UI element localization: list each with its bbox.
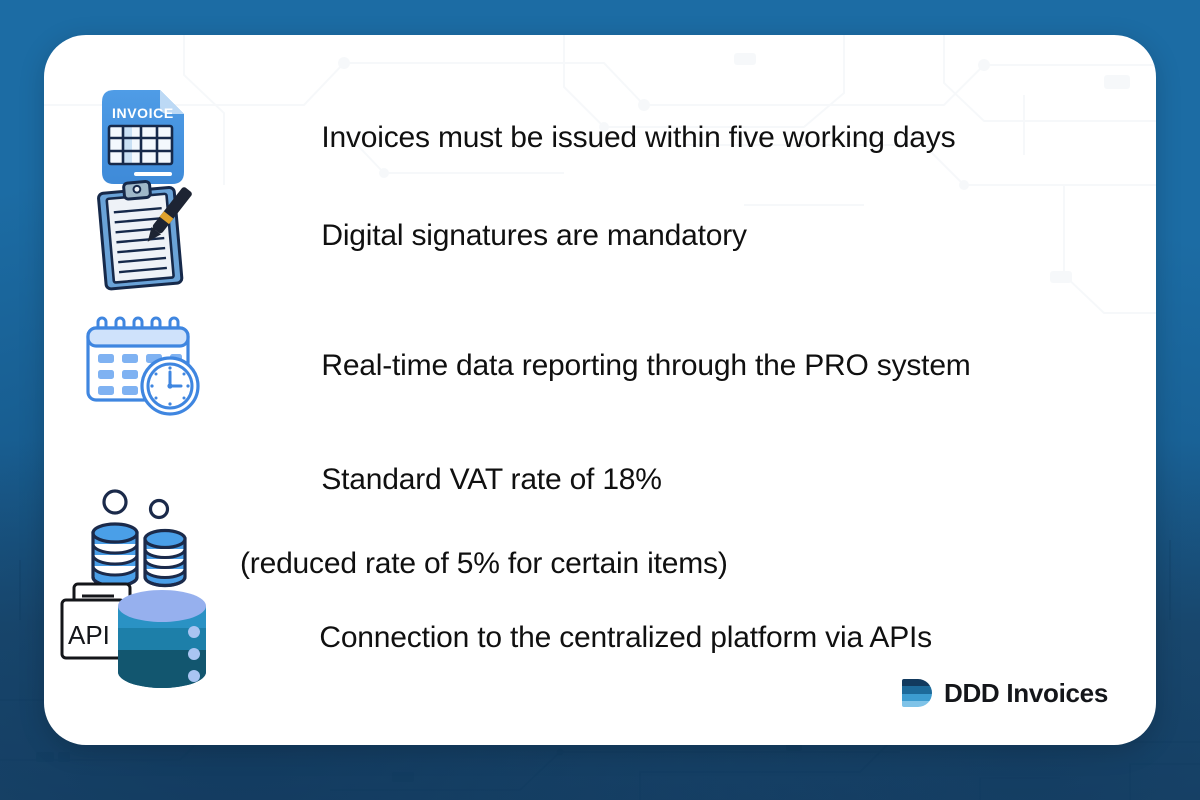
list-item-line1: Real-time data reporting through the PRO… [321,349,970,382]
list-item-line1: Invoices must be issued within five work… [321,121,955,154]
clipboard-signature-icon-cell [44,171,240,301]
list-item-line1: Standard VAT rate of 18% [321,463,661,496]
list-item-line1: Connection to the centralized platform v… [319,621,932,654]
clipboard-signature-icon [88,176,196,296]
list-item-text: Digital signatures are mandatory [240,173,747,299]
list-item-line1: Digital signatures are mandatory [321,219,746,252]
infographic-canvas: INVOICE [0,0,1200,800]
list-item-text: Connection to the centralized platform v… [238,575,932,701]
api-database-icon-cell: API [44,573,240,703]
list-item: Real-time data reporting through the PRO… [44,303,971,429]
api-database-icon: API [52,576,232,700]
api-label: API [68,620,110,650]
feature-list: INVOICE [44,35,1156,745]
ddd-invoices-logo-icon [900,677,934,709]
calendar-clock-icon-cell [44,311,240,421]
list-item-text: Real-time data reporting through the PRO… [240,303,971,429]
brand-logo[interactable]: DDD Invoices [900,677,1108,709]
content-card: INVOICE [44,35,1156,745]
list-item: Digital signatures are mandatory [44,171,747,301]
brand-logo-text: DDD Invoices [944,678,1108,709]
calendar-clock-icon [80,316,204,416]
svg-text:INVOICE: INVOICE [112,105,174,121]
list-item: API [44,573,932,703]
